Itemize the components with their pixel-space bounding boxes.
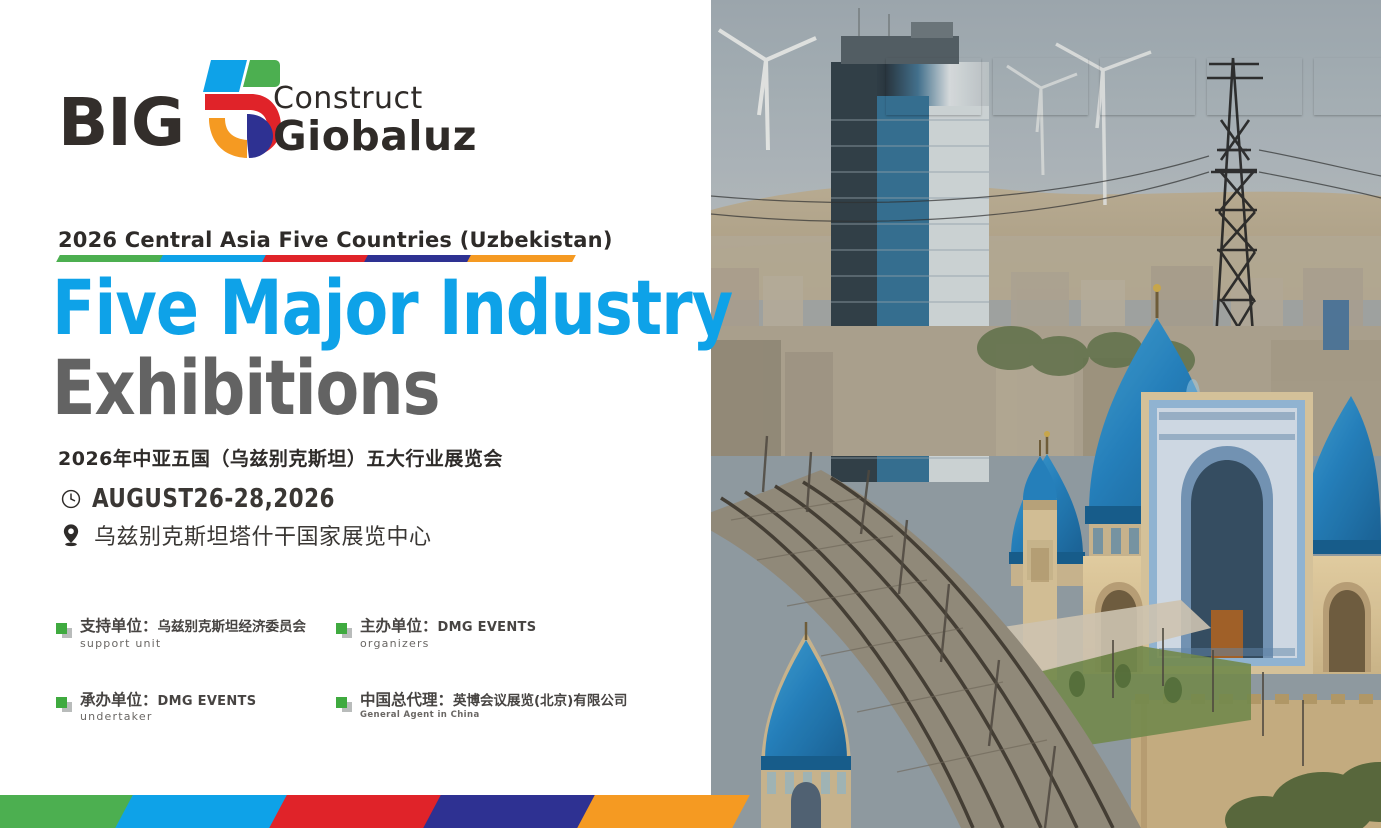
kazakhstan-flag [993,58,1088,115]
event-date-row: AUGUST26-28,2026 [58,482,432,516]
map-pin-icon [58,522,84,548]
headline-line-1: Five Major Industry [52,272,732,344]
logo-numeral-five-icon [203,52,281,159]
bottom-rainbow-bar [0,795,740,828]
credit-label: 中国总代理： [360,691,453,709]
rainbow-segment-1 [115,795,288,828]
credits-row: 承办单位：DMG EVENTS undertaker 中国总代理：英博会议展览(… [56,692,666,724]
rainbow-segment-2 [262,255,371,262]
credit-sub: General Agent in China [360,711,627,720]
rainbow-segment-1 [159,255,268,262]
logo-line-construct: Construct [273,84,477,114]
credit-value: DMG EVENTS [438,620,537,635]
credit-value: 英博会议展览(北京)有限公司 [453,693,627,709]
rainbow-segment-0 [0,795,134,828]
credit-sub: support unit [80,638,306,650]
rainbow-segment-4 [467,255,576,262]
credit-item-organizers: 主办单位：DMG EVENTS organizers [336,618,666,650]
content-panel: BIG Construct Giobaluz [0,0,711,828]
turkmenistan-flag [1100,58,1195,115]
logo-text-block: Construct Giobaluz [273,84,477,157]
event-date: AUGUST26-28,2026 [92,484,335,514]
headline-line-2: Exhibitions [52,352,440,424]
event-meta: AUGUST26-28,2026 乌兹别克斯坦塔什干国家展览中心 [58,482,432,552]
credit-item-support-unit: 支持单位：乌兹别克斯坦经济委员会 support unit [56,618,336,650]
square-marker-icon [336,623,352,639]
credit-value: DMG EVENTS [158,694,257,709]
country-flags [886,58,1381,115]
rainbow-segment-2 [269,795,442,828]
credit-value: 乌兹别克斯坦经济委员会 [158,619,307,635]
kyrgyzstan-flag [1207,58,1302,115]
hero-photo [711,0,1381,828]
credit-item-general-agent: 中国总代理：英博会议展览(北京)有限公司 General Agent in Ch… [336,692,666,724]
event-eyebrow: 2026 Central Asia Five Countries (Uzbeki… [58,228,613,252]
credits-block: 支持单位：乌兹别克斯坦经济委员会 support unit 主办单位：DMG E… [56,618,666,723]
credit-sub: undertaker [80,711,256,723]
rainbow-segment-3 [365,255,474,262]
poster-root: BIG Construct Giobaluz [0,0,1381,828]
credit-label: 主办单位： [360,617,438,635]
square-marker-icon [56,697,72,713]
credits-row: 支持单位：乌兹别克斯坦经济委员会 support unit 主办单位：DMG E… [56,618,666,650]
event-venue-row: 乌兹别克斯坦塔什干国家展览中心 [58,518,432,552]
credit-item-undertaker: 承办单位：DMG EVENTS undertaker [56,692,336,724]
subtitle-chinese: 2026年中亚五国（乌兹别克斯坦）五大行业展览会 [58,444,503,471]
clock-icon [58,486,84,512]
event-venue: 乌兹别克斯坦塔什干国家展览中心 [94,519,432,551]
eyebrow-rainbow-rule [58,255,572,262]
big5-logo[interactable]: BIG Construct Giobaluz [58,52,478,167]
square-marker-icon [56,623,72,639]
credit-label: 支持单位： [80,617,158,635]
credit-sub: organizers [360,638,536,650]
uzbekistan-flag [886,58,981,115]
rainbow-segment-4 [577,795,750,828]
rainbow-segment-3 [423,795,596,828]
rainbow-segment-0 [56,255,165,262]
tajikistan-flag [1314,58,1381,115]
logo-wordmark: BIG [58,90,184,156]
logo-line-giobaluz: Giobaluz [273,116,477,157]
square-marker-icon [336,697,352,713]
credit-label: 承办单位： [80,691,158,709]
